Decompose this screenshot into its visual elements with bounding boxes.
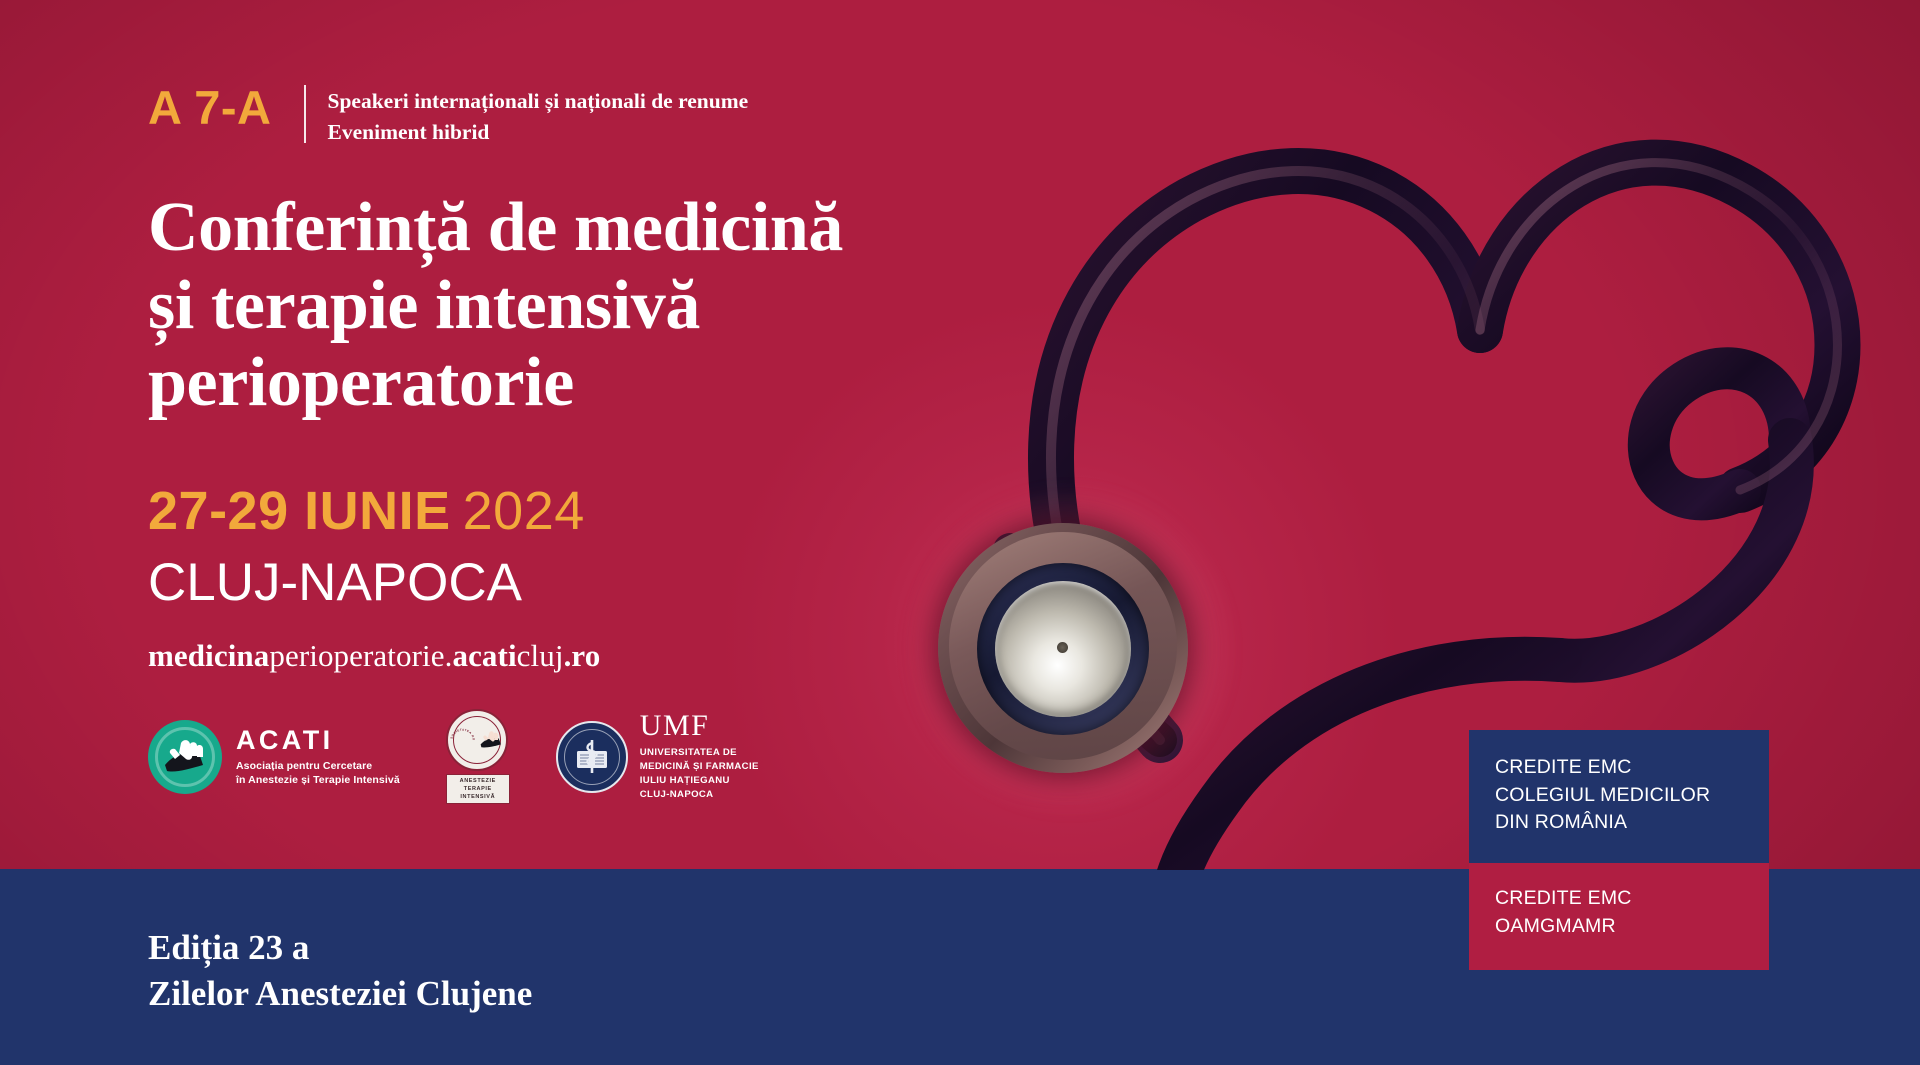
seal-icon: SOCIETATEA ROMÂNĂ bbox=[446, 709, 508, 771]
credit-cmr-line-1: CREDITE EMC bbox=[1495, 754, 1743, 782]
url-part-4: cluj bbox=[517, 638, 564, 673]
url-part-2: perioperatorie. bbox=[269, 638, 452, 673]
acati-subtitle: Asociația pentru Cercetare în Anestezie … bbox=[236, 759, 400, 787]
eyebrow-text: Speakeri internaționali și naționali de … bbox=[328, 84, 749, 147]
umf-name: UMF bbox=[640, 711, 759, 741]
footer-line-1: Ediția 23 a bbox=[148, 925, 532, 971]
acati-text: ACATI Asociația pentru Cercetare în Anes… bbox=[236, 727, 400, 787]
umf-text: UMF UNIVERSITATEA DE MEDICINĂ ȘI FARMACI… bbox=[640, 711, 759, 802]
seal-plate-line-2: TERAPIE INTENSIVĂ bbox=[447, 785, 509, 802]
acati-sub-line-1: Asociația pentru Cercetare bbox=[236, 759, 400, 773]
seal-plate: ANESTEZIE TERAPIE INTENSIVĂ bbox=[446, 774, 510, 804]
eyebrow-line-1: Speakeri internaționali și naționali de … bbox=[328, 86, 749, 117]
date-range: 27-29 IUNIE bbox=[148, 481, 451, 541]
credit-cmr-line-2: COLEGIUL MEDICILOR bbox=[1495, 782, 1743, 810]
umf-sub-line-3: IULIU HAȚIEGANU bbox=[640, 774, 759, 788]
date-year: 2024 bbox=[463, 481, 585, 541]
url-part-3: acati bbox=[452, 638, 516, 673]
footer-line-2: Zilelor Anesteziei Clujene bbox=[148, 971, 532, 1017]
website-url[interactable]: medicinaperioperatorie.acaticluj.ro bbox=[148, 639, 1048, 673]
title-line-1: Conferință de medicină bbox=[148, 189, 978, 267]
edition-number: A 7-A bbox=[148, 84, 272, 131]
acati-sub-line-2: în Anestezie și Terapie Intensivă bbox=[236, 773, 400, 787]
logo-acati: ACATI Asociația pentru Cercetare în Anes… bbox=[148, 720, 400, 794]
eyebrow-line-2: Eveniment hibrid bbox=[328, 117, 749, 148]
seal-plate-line-1: ANESTEZIE bbox=[447, 777, 509, 785]
url-part-5: .ro bbox=[564, 638, 601, 673]
event-city: CLUJ-NAPOCA bbox=[148, 554, 1048, 611]
credit-oamgmamr-line-2: OAMGMAMR bbox=[1495, 913, 1743, 941]
url-part-1: medicina bbox=[148, 638, 269, 673]
umf-sub-line-2: MEDICINĂ ȘI FARMACIE bbox=[640, 760, 759, 774]
event-date: 27-29 IUNIE2024 bbox=[148, 484, 1048, 538]
footer-edition-text: Ediția 23 a Zilelor Anesteziei Clujene bbox=[148, 925, 532, 1017]
conference-poster: A 7-A Speakeri internaționali și naționa… bbox=[0, 0, 1920, 1065]
title-line-3: perioperatorie bbox=[148, 344, 978, 422]
umf-sub-line-1: UNIVERSITATEA DE bbox=[640, 746, 759, 760]
logo-umf: UMF UNIVERSITATEA DE MEDICINĂ ȘI FARMACI… bbox=[556, 711, 759, 802]
credit-badge-oamgmamr: CREDITE EMC OAMGMAMR bbox=[1469, 863, 1769, 970]
chestpiece-center-dot bbox=[1057, 642, 1068, 653]
credit-oamgmamr-line-1: CREDITE EMC bbox=[1495, 885, 1743, 913]
umf-sub-line-4: CLUJ-NAPOCA bbox=[640, 788, 759, 802]
credit-badge-cmr: CREDITE EMC COLEGIUL MEDICILOR DIN ROMÂN… bbox=[1469, 730, 1769, 863]
logo-societatea-romana: SOCIETATEA ROMÂNĂ ANESTEZIE TERAPIE INTE… bbox=[446, 709, 510, 804]
acati-name: ACATI bbox=[236, 727, 400, 754]
acati-hand-icon bbox=[148, 720, 222, 794]
partner-logos: ACATI Asociația pentru Cercetare în Anes… bbox=[148, 709, 1048, 804]
poster-content: A 7-A Speakeri internaționali și naționa… bbox=[148, 0, 1048, 804]
umf-subtitle: UNIVERSITATEA DE MEDICINĂ ȘI FARMACIE IU… bbox=[640, 746, 759, 802]
eyebrow-divider bbox=[304, 85, 306, 143]
svg-text:SOCIETATEA ROMÂNĂ: SOCIETATEA ROMÂNĂ bbox=[448, 722, 476, 742]
title-line-2: și terapie intensivă bbox=[148, 267, 978, 345]
credit-cmr-line-3: DIN ROMÂNIA bbox=[1495, 809, 1743, 837]
credit-badges: CREDITE EMC COLEGIUL MEDICILOR DIN ROMÂN… bbox=[1469, 730, 1769, 970]
eyebrow-row: A 7-A Speakeri internaționali și naționa… bbox=[148, 84, 1048, 147]
umf-crest-icon bbox=[556, 721, 628, 793]
page-title: Conferință de medicină și terapie intens… bbox=[148, 189, 978, 422]
